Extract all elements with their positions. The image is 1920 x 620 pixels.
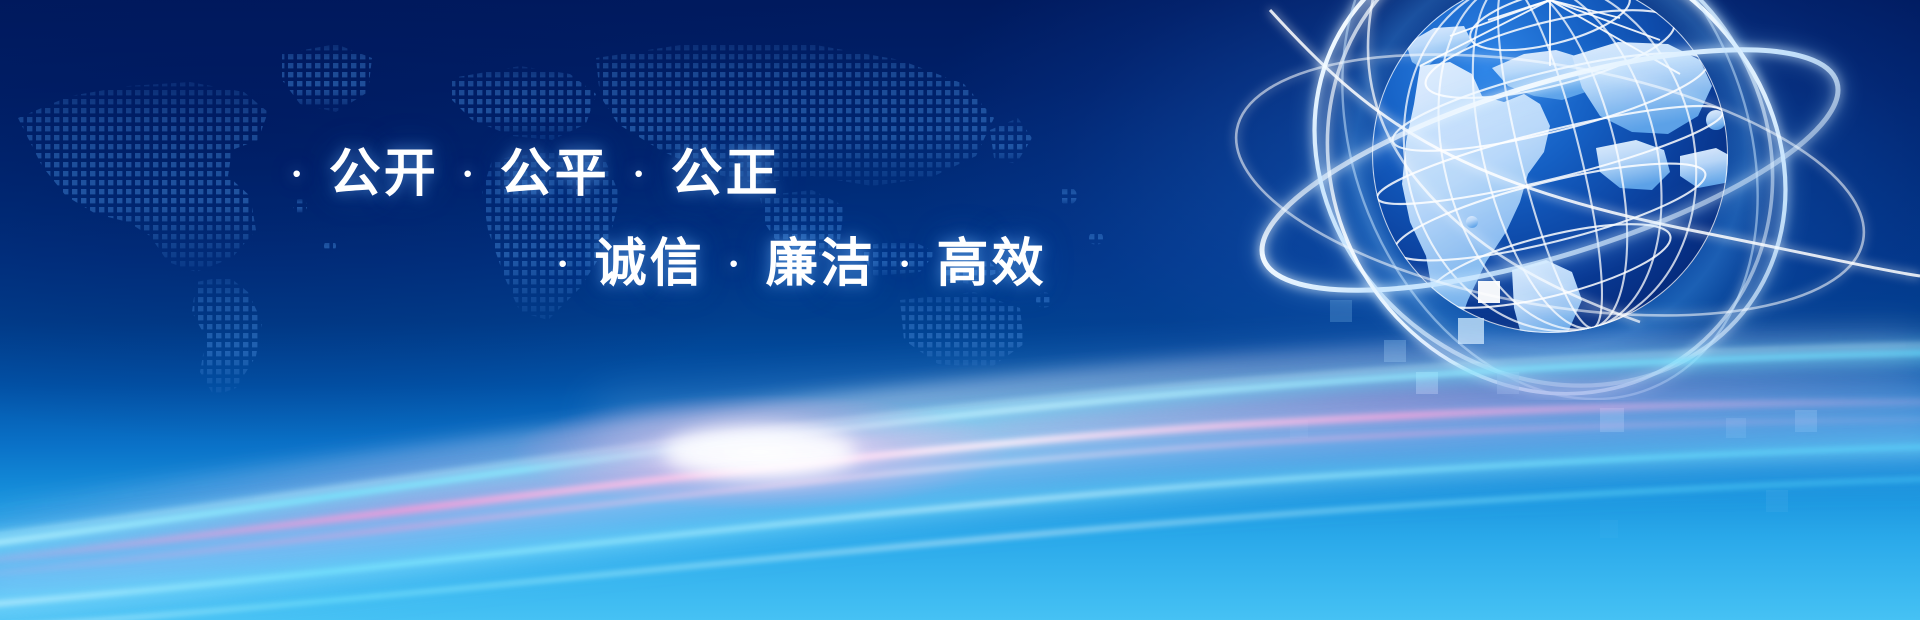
bottom-light-wave bbox=[0, 300, 1920, 620]
banner-root: · 公开 · 公平 · 公正 · 诚信 · 廉洁 · 高效 bbox=[0, 0, 1920, 620]
